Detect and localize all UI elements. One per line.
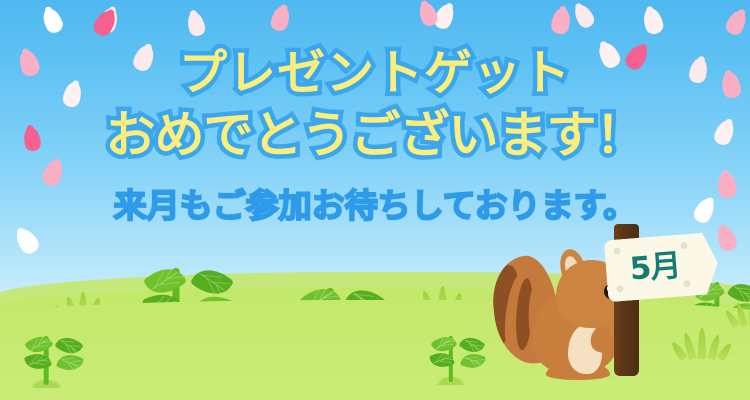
leaf-rib [441,344,453,346]
leaf-rib [42,341,54,343]
celebration-banner: 5月 プレゼントゲット おめでとうございます！ 来月もご参加お待ちしております。 [0,0,750,400]
grass-tuft-icon [733,300,750,326]
leaf-rib [34,362,46,365]
sprout-plant-icon [18,336,75,385]
grass-blade [698,328,706,359]
headline-line-2: おめでとうございます！ [0,104,750,166]
grass-tuft-icon [680,330,727,359]
leaf-rib [439,360,451,363]
sprout-plant-icon [424,336,477,382]
leaf-rib [36,345,48,347]
leaf-rib [466,356,478,359]
leaf-rib [63,357,75,360]
leaf-rib [70,360,82,363]
leaf-rib [472,358,484,361]
leaf-rib [446,358,456,361]
subtitle-text: 来月もご参加お待ちしております。 [0,185,750,227]
leaf-rib [447,340,458,342]
headline-line-1: プレゼントゲット [0,42,750,104]
headline-block: プレゼントゲット おめでとうございます！ [0,42,750,166]
month-signboard: 5月 [604,232,721,303]
signboard-month-label: 5月 [610,239,700,296]
leaf-rib [41,359,52,362]
